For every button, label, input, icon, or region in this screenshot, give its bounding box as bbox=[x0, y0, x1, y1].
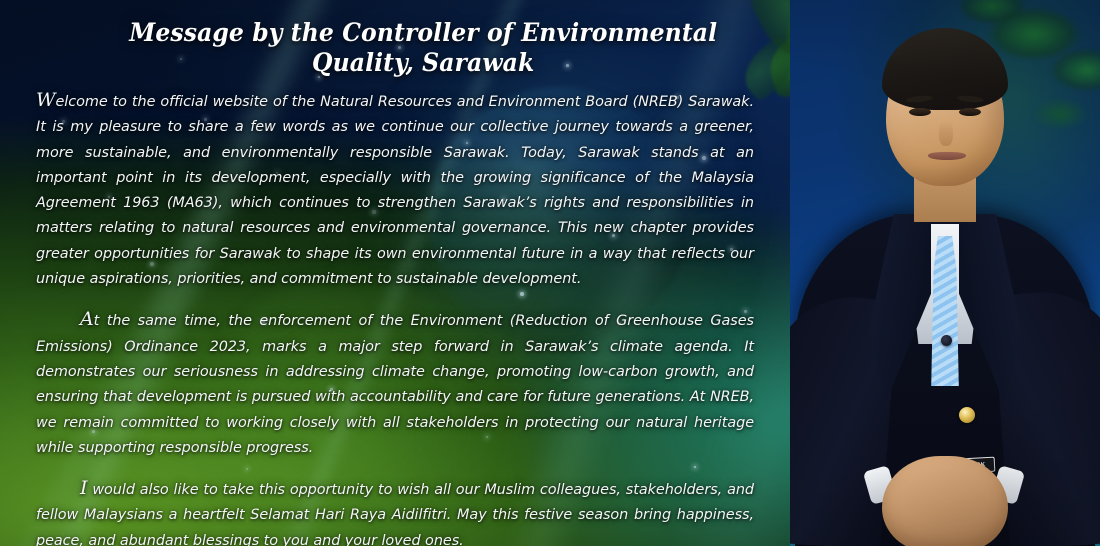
portrait-suit: JACK bbox=[795, 214, 1095, 546]
message-paragraph: I would also like to take this opportuni… bbox=[36, 478, 754, 546]
portrait-eye-right bbox=[959, 108, 981, 116]
portrait-crest-pin-icon bbox=[959, 407, 975, 423]
portrait-suit-button bbox=[941, 335, 952, 346]
portrait-nose bbox=[939, 120, 953, 146]
message-paragraph: Welcome to the official website of the N… bbox=[36, 90, 754, 292]
portrait-eye-left bbox=[909, 108, 931, 116]
portrait-edge-fade bbox=[790, 0, 824, 546]
message-paragraph: At the same time, the enforcement of the… bbox=[36, 309, 754, 461]
page-title: Message by the Controller of Environment… bbox=[58, 10, 733, 90]
controller-portrait: JACK bbox=[790, 0, 1100, 546]
paragraph-dropcap: I bbox=[80, 477, 87, 499]
message-content: Message by the Controller of Environment… bbox=[36, 10, 754, 546]
hero-banner: JACK Message by the Controller of Enviro… bbox=[0, 0, 1100, 546]
paragraph-dropcap: W bbox=[36, 89, 55, 111]
message-paragraphs: Welcome to the official website of the N… bbox=[36, 90, 754, 546]
portrait-hands bbox=[882, 456, 1008, 546]
portrait-mouth bbox=[928, 152, 966, 160]
paragraph-dropcap: A bbox=[80, 308, 94, 330]
